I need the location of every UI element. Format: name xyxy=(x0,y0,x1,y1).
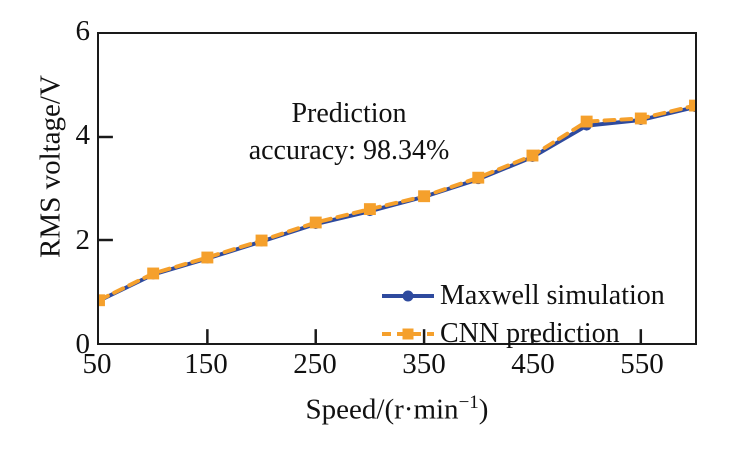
prediction-accuracy-annotation: Prediction accuracy: 98.34% xyxy=(224,96,474,170)
chart-legend: Maxwell simulation CNN prediction xyxy=(380,277,710,353)
legend-label-maxwell: Maxwell simulation xyxy=(436,282,665,310)
x-tick-550: 550 xyxy=(602,350,682,379)
y-axis-label: RMS voltage/V xyxy=(35,17,68,317)
x-tick-350: 350 xyxy=(384,350,464,379)
data-point xyxy=(99,294,105,306)
y-axis-ticks xyxy=(99,137,113,240)
annotation-line-1: Prediction xyxy=(224,96,474,133)
annotation-line-2: accuracy: 98.34% xyxy=(224,133,474,170)
data-point xyxy=(472,172,484,184)
data-point xyxy=(147,268,159,280)
legend-sample-svg-maxwell xyxy=(380,286,436,306)
data-point xyxy=(364,203,376,215)
legend-sample-svg-cnn xyxy=(380,324,436,344)
x-tick-450: 450 xyxy=(493,350,573,379)
x-tick-250: 250 xyxy=(275,350,355,379)
x-axis-label-main: Speed/(r·min xyxy=(306,394,459,426)
plot-area: Prediction accuracy: 98.34% Maxwell simu… xyxy=(97,32,697,345)
x-axis-label: Speed/(r·min−1) xyxy=(97,392,697,427)
data-point xyxy=(689,100,695,112)
data-point xyxy=(310,217,322,229)
x-axis-label-exponent: −1 xyxy=(459,392,479,413)
legend-item-maxwell: Maxwell simulation xyxy=(380,277,710,315)
data-point xyxy=(526,150,538,162)
legend-item-cnn: CNN prediction xyxy=(380,315,710,353)
data-point xyxy=(256,235,268,247)
legend-label-cnn: CNN prediction xyxy=(436,320,620,348)
legend-swatch-maxwell-line-marker xyxy=(380,286,436,306)
x-tick-50: 50 xyxy=(57,350,137,379)
data-point xyxy=(635,113,647,125)
chart-figure: 6 4 2 0 RMS voltage/V 50 150 250 350 450… xyxy=(0,0,731,451)
data-point xyxy=(418,190,430,202)
x-tick-150: 150 xyxy=(166,350,246,379)
data-point xyxy=(581,116,593,128)
legend-swatch-cnn-line-marker xyxy=(380,324,436,344)
data-point xyxy=(201,252,213,264)
x-axis-label-tail: ) xyxy=(479,394,489,426)
